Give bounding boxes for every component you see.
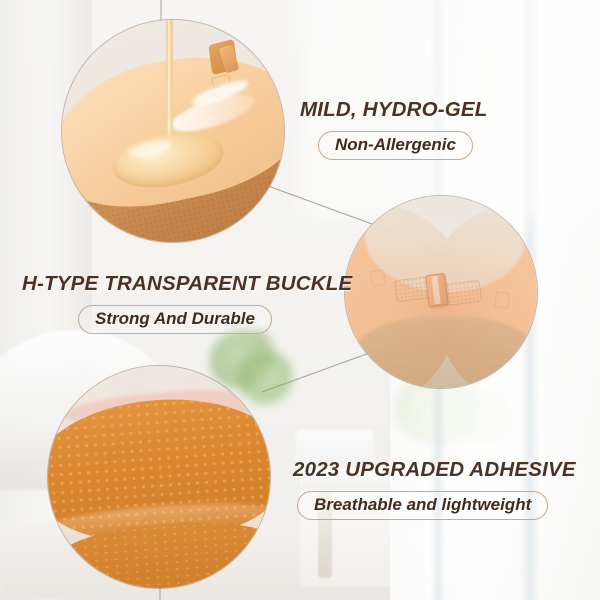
feature-headline-h-type-buckle: H-TYPE TRANSPARENT BUCKLE xyxy=(22,272,352,296)
feature-badge-h-type-buckle: Strong And Durable xyxy=(78,305,272,334)
feature-headline-upgraded-adhesive: 2023 UPGRADED ADHESIVE xyxy=(293,458,576,482)
hydro-gel-pour-photo[interactable] xyxy=(62,20,284,242)
cup-embossed-logo-right xyxy=(494,291,510,309)
gel-pour-stream-highlight xyxy=(168,20,170,150)
cup-bottom-shadow xyxy=(351,316,537,388)
feature-text-hydro-gel: MILD, HYDRO-GEL Non-Allergenic xyxy=(300,98,488,160)
cup-embossed-logo-left xyxy=(370,269,387,287)
feature-text-h-type-buckle: H-TYPE TRANSPARENT BUCKLE Strong And Dur… xyxy=(22,272,352,334)
adhesive-dotted-layer-photo[interactable] xyxy=(48,366,270,588)
feature-headline-hydro-gel: MILD, HYDRO-GEL xyxy=(300,98,488,122)
feature-text-upgraded-adhesive: 2023 UPGRADED ADHESIVE Breathable and li… xyxy=(293,458,576,520)
product-feature-infographic: MILD, HYDRO-GEL Non-Allergenic H-TYPE TR… xyxy=(0,0,600,600)
h-type-buckle-photo[interactable] xyxy=(345,196,537,388)
feature-badge-hydro-gel: Non-Allergenic xyxy=(318,131,473,160)
feature-badge-upgraded-adhesive: Breathable and lightweight xyxy=(297,491,548,520)
